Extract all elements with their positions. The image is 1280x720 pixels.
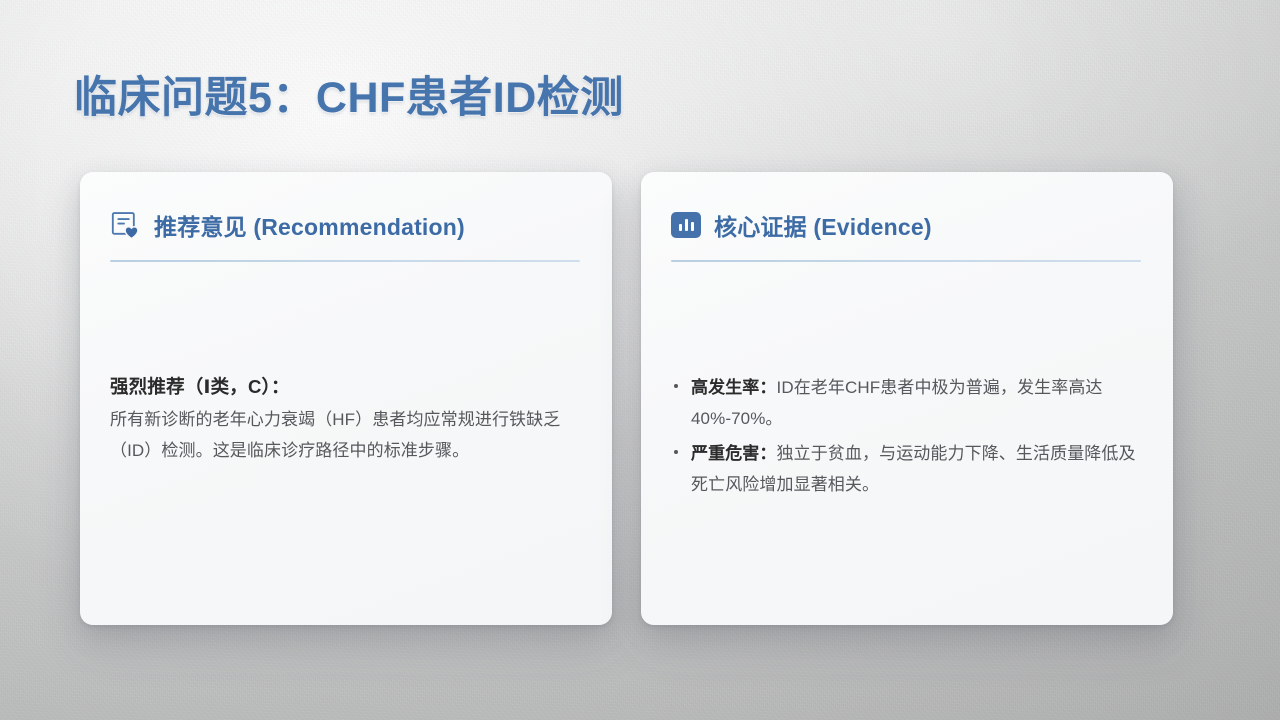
bullet-icon bbox=[674, 450, 678, 454]
evidence-card-title: 核心证据 (Evidence) bbox=[714, 208, 932, 242]
list-item: 高发生率：ID在老年CHF患者中极为普遍，发生率高达40%-70%。 bbox=[671, 372, 1149, 435]
evidence-card: 核心证据 (Evidence) 高发生率：ID在老年CHF患者中极为普遍，发生率… bbox=[641, 172, 1173, 625]
recommendation-card-title: 推荐意见 (Recommendation) bbox=[154, 208, 465, 242]
bar-chart-bar-1 bbox=[679, 224, 682, 231]
page-title: 临床问题5：CHF患者ID检测 bbox=[74, 74, 624, 123]
recommendation-header-divider bbox=[110, 260, 580, 262]
document-heart-icon bbox=[110, 210, 141, 241]
bar-chart-bar-2 bbox=[685, 219, 688, 231]
bullet-icon bbox=[674, 384, 678, 388]
recommendation-lead-text: 强烈推荐（Ⅰ类，C）： bbox=[110, 372, 588, 402]
recommendation-card-body: 强烈推荐（Ⅰ类，C）： 所有新诊断的老年心力衰竭（HF）患者均应常规进行铁缺乏（… bbox=[110, 372, 588, 466]
bar-chart-bar-3 bbox=[691, 222, 694, 231]
evidence-item-term: 高发生率： bbox=[691, 378, 777, 397]
recommendation-paragraph: 所有新诊断的老年心力衰竭（HF）患者均应常规进行铁缺乏（ID）检测。这是临床诊疗… bbox=[110, 404, 588, 467]
evidence-card-header: 核心证据 (Evidence) bbox=[671, 208, 932, 242]
bar-chart-icon bbox=[671, 212, 701, 238]
recommendation-card: 推荐意见 (Recommendation) 强烈推荐（Ⅰ类，C）： 所有新诊断的… bbox=[80, 172, 612, 625]
slide-canvas: 临床问题5：CHF患者ID检测 推荐意见 (Recommendation) 强烈… bbox=[0, 0, 1280, 720]
evidence-list: 高发生率：ID在老年CHF患者中极为普遍，发生率高达40%-70%。 严重危害：… bbox=[671, 372, 1149, 501]
evidence-card-body: 高发生率：ID在老年CHF患者中极为普遍，发生率高达40%-70%。 严重危害：… bbox=[671, 372, 1149, 504]
list-item: 严重危害：独立于贫血，与运动能力下降、生活质量降低及死亡风险增加显著相关。 bbox=[671, 438, 1149, 501]
evidence-header-divider bbox=[671, 260, 1141, 262]
evidence-item-term: 严重危害： bbox=[691, 444, 777, 463]
recommendation-card-header: 推荐意见 (Recommendation) bbox=[110, 208, 465, 242]
